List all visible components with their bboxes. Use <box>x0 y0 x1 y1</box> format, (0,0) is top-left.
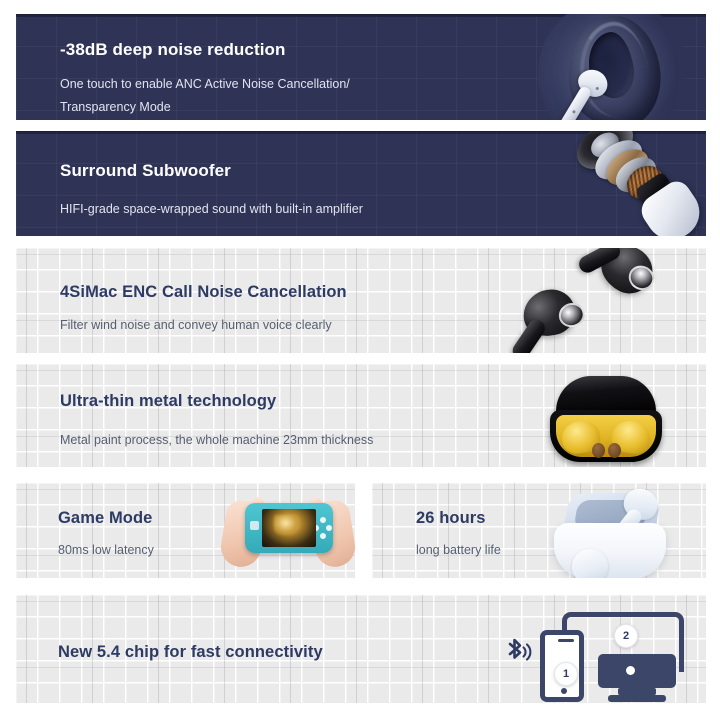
monitor-icon <box>598 654 676 688</box>
earbud-left-icon <box>517 283 581 343</box>
panel-title-battery: 26 hours <box>416 509 501 528</box>
panel-subtitle-game: 80ms low latency <box>58 543 154 557</box>
device-badge-2: 2 <box>614 624 638 648</box>
bluetooth-icon <box>500 636 534 675</box>
panel-subtitle-enc: Filter wind noise and convey human voice… <box>60 318 347 332</box>
panel-subtitle-battery: long battery life <box>416 543 501 557</box>
handheld-game-console-image <box>223 491 353 569</box>
panel-subtitle-metal: Metal paint process, the whole machine 2… <box>60 433 373 447</box>
panel-title-metal: Ultra-thin metal technology <box>60 392 373 411</box>
earbud-right-icon <box>593 248 661 302</box>
feature-panel-subwoofer: Surround Subwoofer HIFI-grade space-wrap… <box>16 131 706 236</box>
white-charging-case-image: realme <box>546 487 686 578</box>
feature-panel-metal: Ultra-thin metal technology Metal paint … <box>16 364 706 467</box>
device-badge-1: 1 <box>554 662 578 686</box>
ear-with-earbud-image <box>516 14 706 120</box>
multipoint-devices-illustration: 1 2 <box>540 612 690 704</box>
feature-panel-anc: -38dB deep noise reduction One touch to … <box>16 14 706 120</box>
panel-subtitle-subwoofer: HIFI-grade space-wrapped sound with buil… <box>60 202 363 216</box>
feature-infographic: -38dB deep noise reduction One touch to … <box>0 0 720 720</box>
panel-subtitle-anc-line2: Transparency Mode <box>60 100 350 114</box>
panel-title-subwoofer: Surround Subwoofer <box>60 161 363 181</box>
panel-title-game: Game Mode <box>58 509 154 528</box>
open-charging-case-yellow-image <box>550 376 662 462</box>
feature-panel-enc: 4SiMac ENC Call Noise Cancellation Filte… <box>16 248 706 353</box>
feature-panel-battery: realme 26 hours long battery life <box>372 483 706 578</box>
panel-title-anc: -38dB deep noise reduction <box>60 40 350 60</box>
exploded-speaker-driver-image <box>570 131 706 236</box>
panel-title-chip: New 5.4 chip for fast connectivity <box>58 643 323 662</box>
feature-panel-game: Game Mode 80ms low latency <box>16 483 355 578</box>
panel-title-enc: 4SiMac ENC Call Noise Cancellation <box>60 283 347 302</box>
panel-subtitle-anc-line1: One touch to enable ANC Active Noise Can… <box>60 77 350 91</box>
black-earbuds-pair-image <box>505 250 700 353</box>
